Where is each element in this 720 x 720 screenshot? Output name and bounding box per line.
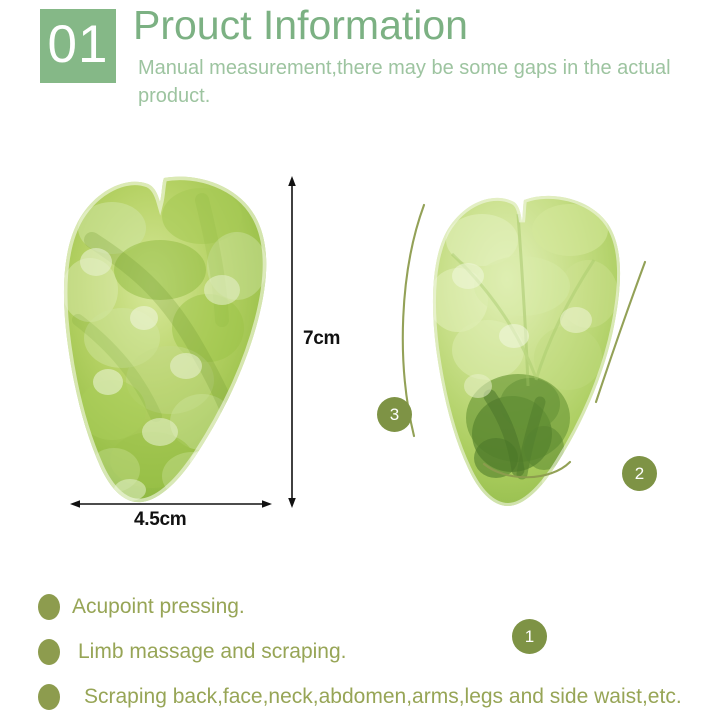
- section-number-badge: 01: [40, 9, 116, 83]
- callout-badge-2-label: 2: [635, 464, 644, 484]
- list-item: Acupoint pressing.: [38, 592, 245, 622]
- gua-sha-stone-large: [52, 170, 274, 505]
- list-item-label: Acupoint pressing.: [72, 595, 245, 619]
- product-illustration-area: 7cm 4.5cm 3 2 1: [0, 130, 720, 570]
- gua-sha-right-svg: [418, 190, 630, 510]
- list-item-label: Scraping back,face,neck,abdomen,arms,leg…: [84, 685, 682, 709]
- callout-badge-3-label: 3: [390, 405, 399, 425]
- bullet-dot-icon: [38, 594, 60, 620]
- page-header: 01 Prouct Information Manual measurement…: [0, 0, 720, 130]
- callout-badge-3[interactable]: 3: [377, 397, 412, 432]
- benefits-list: Acupoint pressing. Limb massage and scra…: [0, 578, 720, 720]
- list-item: Limb massage and scraping.: [38, 637, 346, 667]
- gua-sha-stone-callouts: [418, 190, 630, 510]
- width-dimension-label: 4.5cm: [134, 509, 186, 531]
- bullet-dot-icon: [38, 684, 60, 710]
- section-number-text: 01: [48, 18, 109, 71]
- page-title: Prouct Information: [133, 2, 468, 49]
- callout-badge-2[interactable]: 2: [622, 456, 657, 491]
- height-dimension-arrow: [288, 176, 296, 508]
- list-item-label: Limb massage and scraping.: [78, 640, 346, 664]
- gua-sha-left-svg: [52, 170, 274, 505]
- height-dimension-label: 7cm: [303, 328, 340, 350]
- bullet-dot-icon: [38, 639, 60, 665]
- page-subtitle: Manual measurement,there may be some gap…: [138, 54, 698, 110]
- list-item: Scraping back,face,neck,abdomen,arms,leg…: [38, 682, 682, 712]
